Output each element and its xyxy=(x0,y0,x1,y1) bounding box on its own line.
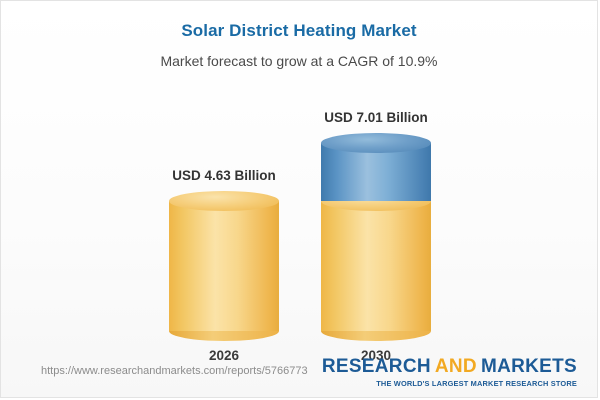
logo-wordmark: RESEARCHANDMARKETS xyxy=(322,357,577,376)
logo-tagline: THE WORLD'S LARGEST MARKET RESEARCH STOR… xyxy=(322,379,577,388)
logo-word-and: AND xyxy=(435,356,477,377)
footer: https://www.researchandmarkets.com/repor… xyxy=(1,349,598,397)
cylinder-top-cap xyxy=(169,191,279,211)
cylinder-2030 xyxy=(321,143,431,331)
logo-word-research: RESEARCH xyxy=(322,356,431,377)
segment-growth-2030 xyxy=(321,143,431,201)
segment-base-2030 xyxy=(321,201,431,331)
bar-group-2030[interactable]: USD 7.01 Billion 2030 xyxy=(321,81,431,331)
chart-card: Solar District Heating Market Market for… xyxy=(0,0,598,398)
research-and-markets-logo[interactable]: RESEARCHANDMARKETS THE WORLD'S LARGEST M… xyxy=(322,357,577,388)
cylinder-2026 xyxy=(169,201,279,331)
bar-group-2026[interactable]: USD 4.63 Billion 2026 xyxy=(169,81,279,331)
cylinder-body xyxy=(169,201,279,331)
logo-word-markets: MARKETS xyxy=(481,356,577,377)
report-url[interactable]: https://www.researchandmarkets.com/repor… xyxy=(41,365,308,377)
chart-title: Solar District Heating Market xyxy=(1,21,597,41)
cylinder-top-cap xyxy=(321,133,431,153)
bar-value-label-2030: USD 7.01 Billion xyxy=(324,110,428,125)
plot-area: USD 4.63 Billion 2026 USD 7.01 Billion xyxy=(1,81,598,331)
cylinder-body xyxy=(321,201,431,331)
chart-subtitle: Market forecast to grow at a CAGR of 10.… xyxy=(1,53,597,69)
bar-value-label-2026: USD 4.63 Billion xyxy=(172,168,276,183)
segment-base-2026 xyxy=(169,201,279,331)
